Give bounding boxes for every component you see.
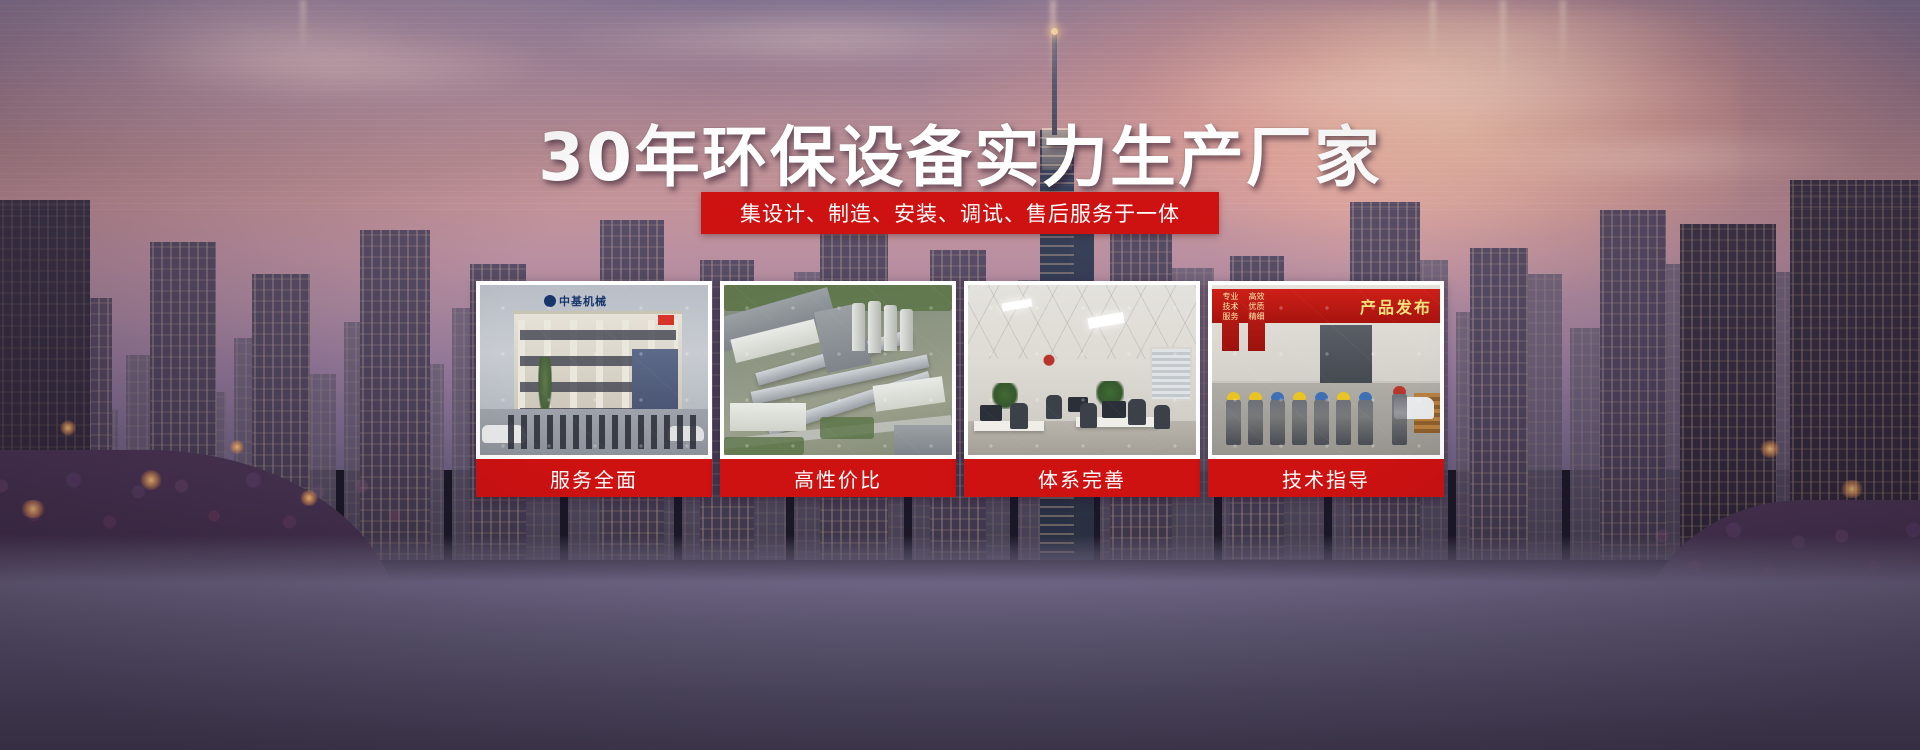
workshop-red-banner: 产品发布 bbox=[1212, 289, 1440, 323]
workshop-banner-text: 产品发布 bbox=[1360, 294, 1432, 318]
card-caption: 体系完善 bbox=[964, 459, 1200, 497]
card-photo-workshop: 产品发布 专业 技术 服务 高效 优质 精细 bbox=[1212, 285, 1440, 455]
card-caption: 服务全面 bbox=[476, 459, 712, 497]
light-spark-5 bbox=[300, 490, 318, 506]
light-spark-2 bbox=[140, 470, 162, 490]
building-sign-text: 中基机械 bbox=[559, 293, 607, 309]
light-spark-4 bbox=[20, 500, 46, 518]
feature-card-guidance[interactable]: 产品发布 专业 技术 服务 高效 优质 精细 技术指导 bbox=[1208, 281, 1444, 497]
river bbox=[0, 535, 1920, 750]
card-photo-office-interior bbox=[968, 285, 1196, 455]
vertical-banner-left: 专业 技术 服务 bbox=[1222, 289, 1239, 351]
light-spark-7 bbox=[1840, 480, 1864, 498]
light-spark-1 bbox=[60, 420, 76, 436]
building-sign: 中基机械 bbox=[544, 293, 648, 308]
feature-card-row: 中基机械 服务全面 bbox=[476, 281, 1444, 497]
card-photo-aerial-plant bbox=[724, 285, 952, 455]
light-spark-6 bbox=[1760, 440, 1780, 458]
hero-banner: 30年环保设备实力生产厂家 集设计、制造、安装、调试、售后服务于一体 中基机械 bbox=[0, 0, 1920, 750]
subtitle-text: 集设计、制造、安装、调试、售后服务于一体 bbox=[740, 198, 1180, 228]
vertical-banner-right: 高效 优质 精细 bbox=[1248, 289, 1265, 351]
feature-card-service[interactable]: 中基机械 服务全面 bbox=[476, 281, 712, 497]
light-spark-3 bbox=[230, 440, 244, 454]
feature-card-value[interactable]: 高性价比 bbox=[720, 281, 956, 497]
subtitle-bar: 集设计、制造、安装、调试、售后服务于一体 bbox=[701, 192, 1219, 234]
card-caption: 高性价比 bbox=[720, 459, 956, 497]
feature-card-system[interactable]: 体系完善 bbox=[964, 281, 1200, 497]
card-photo-office-building: 中基机械 bbox=[480, 285, 708, 455]
card-caption: 技术指导 bbox=[1208, 459, 1444, 497]
banner-headline: 30年环保设备实力生产厂家 bbox=[0, 104, 1920, 200]
company-logo-icon bbox=[544, 295, 556, 307]
